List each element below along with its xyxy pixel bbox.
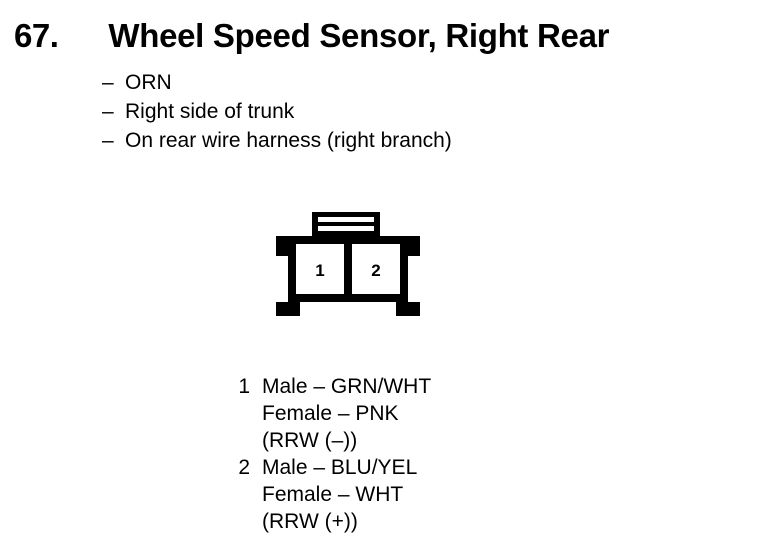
pinout-line: (RRW (–)) [262,427,431,454]
item-title: Wheel Speed Sensor, Right Rear [108,17,609,55]
list-item: – On rear wire harness (right branch) [102,126,452,155]
item-number: 67. [14,17,58,55]
pinout-index: 1 [232,373,250,400]
locking-tab-outer [312,212,380,236]
pinout-detail: Male – GRN/WHT Female – PNK (RRW (–)) [262,373,431,454]
pinout-line: (RRW (+)) [262,508,417,535]
pin-number-1: 1 [315,261,324,280]
list-item: – Right side of trunk [102,97,452,126]
pinout-list: 1 Male – GRN/WHT Female – PNK (RRW (–)) … [232,373,431,535]
locking-tab-slot-upper [318,217,374,222]
pinout-line: Female – PNK [262,400,431,427]
pinout-line: Male – BLU/YEL [262,454,417,481]
pinout-entry: 1 Male – GRN/WHT Female – PNK (RRW (–)) [232,373,431,454]
list-item: – ORN [102,68,452,97]
pin-number-2: 2 [371,261,380,280]
pinout-index: 2 [232,454,250,481]
page-title: 67. Wheel Speed Sensor, Right Rear [14,17,609,55]
dash-marker: – [102,97,125,126]
connector-illustration: 1 2 [268,208,428,323]
note-text: ORN [125,68,172,97]
dash-marker: – [102,126,125,155]
connector-diagram: 1 2 [268,208,428,323]
locking-tab-slot-lower [318,226,374,231]
pinout-detail: Male – BLU/YEL Female – WHT (RRW (+)) [262,454,417,535]
note-list: – ORN – Right side of trunk – On rear wi… [102,68,452,155]
note-text: On rear wire harness (right branch) [125,126,452,155]
dash-marker: – [102,68,125,97]
note-text: Right side of trunk [125,97,294,126]
pinout-line: Female – WHT [262,481,417,508]
pinout-line: Male – GRN/WHT [262,373,431,400]
pinout-entry: 2 Male – BLU/YEL Female – WHT (RRW (+)) [232,454,431,535]
